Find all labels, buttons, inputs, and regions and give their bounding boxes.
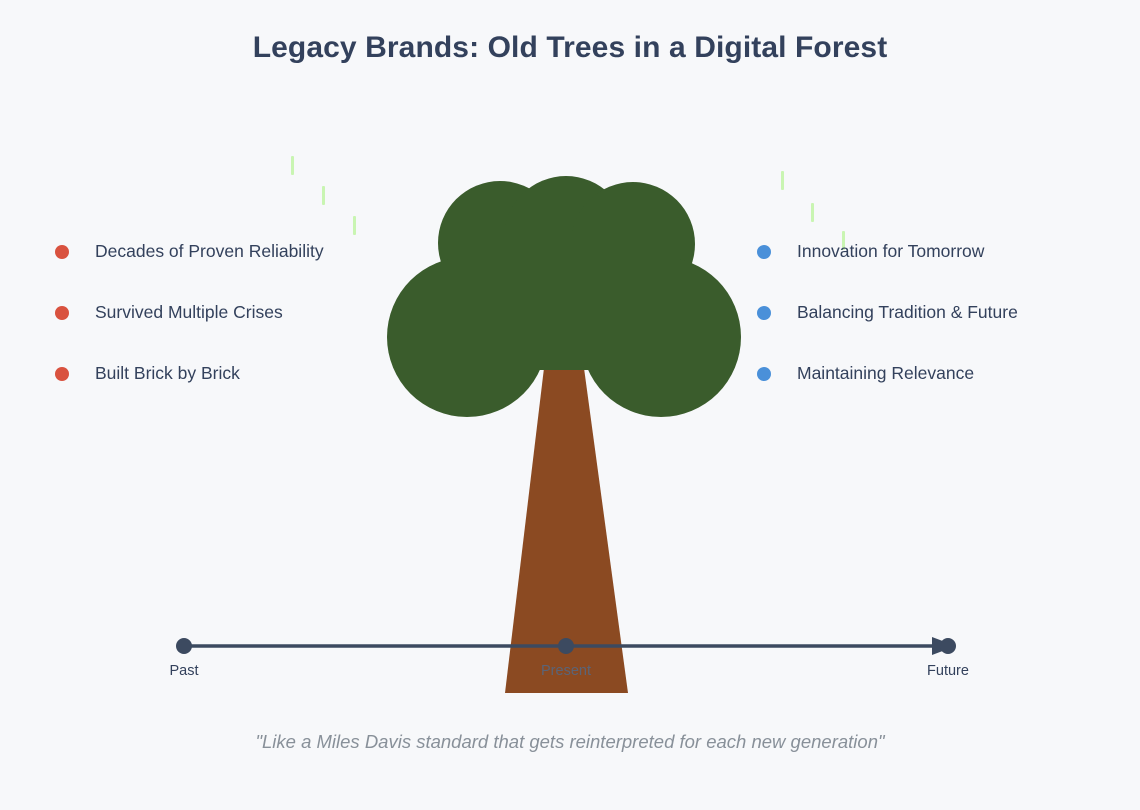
timeline-node-future[interactable]: [940, 638, 956, 654]
timeline-node-present[interactable]: [558, 638, 574, 654]
list-item[interactable]: Built Brick by Brick: [55, 365, 240, 383]
bullet-dot-icon: [55, 306, 69, 320]
list-item-label: Balancing Tradition & Future: [797, 304, 1018, 322]
list-item-label: Maintaining Relevance: [797, 365, 974, 383]
list-item-label: Survived Multiple Crises: [95, 304, 283, 322]
list-item[interactable]: Innovation for Tomorrow: [757, 243, 984, 261]
bullet-dot-icon: [55, 367, 69, 381]
leaf-particle-icon: [781, 171, 784, 190]
bullet-dot-icon: [55, 245, 69, 259]
tree-illustration: [0, 0, 1140, 810]
canopy-fill: [467, 238, 661, 370]
list-item[interactable]: Survived Multiple Crises: [55, 304, 283, 322]
timeline-tick-label-future: Future: [878, 663, 1018, 679]
timeline-tick-label-past: Past: [114, 663, 254, 679]
list-item-label: Decades of Proven Reliability: [95, 243, 324, 261]
list-item-label: Innovation for Tomorrow: [797, 243, 984, 261]
diagram-canvas: Legacy Brands: Old Trees in a Digital Fo…: [0, 0, 1140, 810]
bullet-dot-icon: [757, 367, 771, 381]
leaf-particle-icon: [353, 216, 356, 235]
leaf-particle-icon: [811, 203, 814, 222]
timeline-node-past[interactable]: [176, 638, 192, 654]
timeline-axis: [176, 637, 956, 655]
timeline-tick-label-present: Present: [496, 663, 636, 679]
list-item[interactable]: Maintaining Relevance: [757, 365, 974, 383]
bullet-dot-icon: [757, 306, 771, 320]
list-item-label: Built Brick by Brick: [95, 365, 240, 383]
leaf-particle-icon: [322, 186, 325, 205]
caption-text: "Like a Miles Davis standard that gets r…: [0, 731, 1140, 753]
leaf-particle-icon: [291, 156, 294, 175]
list-item[interactable]: Decades of Proven Reliability: [55, 243, 324, 261]
list-item[interactable]: Balancing Tradition & Future: [757, 304, 1018, 322]
bullet-dot-icon: [757, 245, 771, 259]
